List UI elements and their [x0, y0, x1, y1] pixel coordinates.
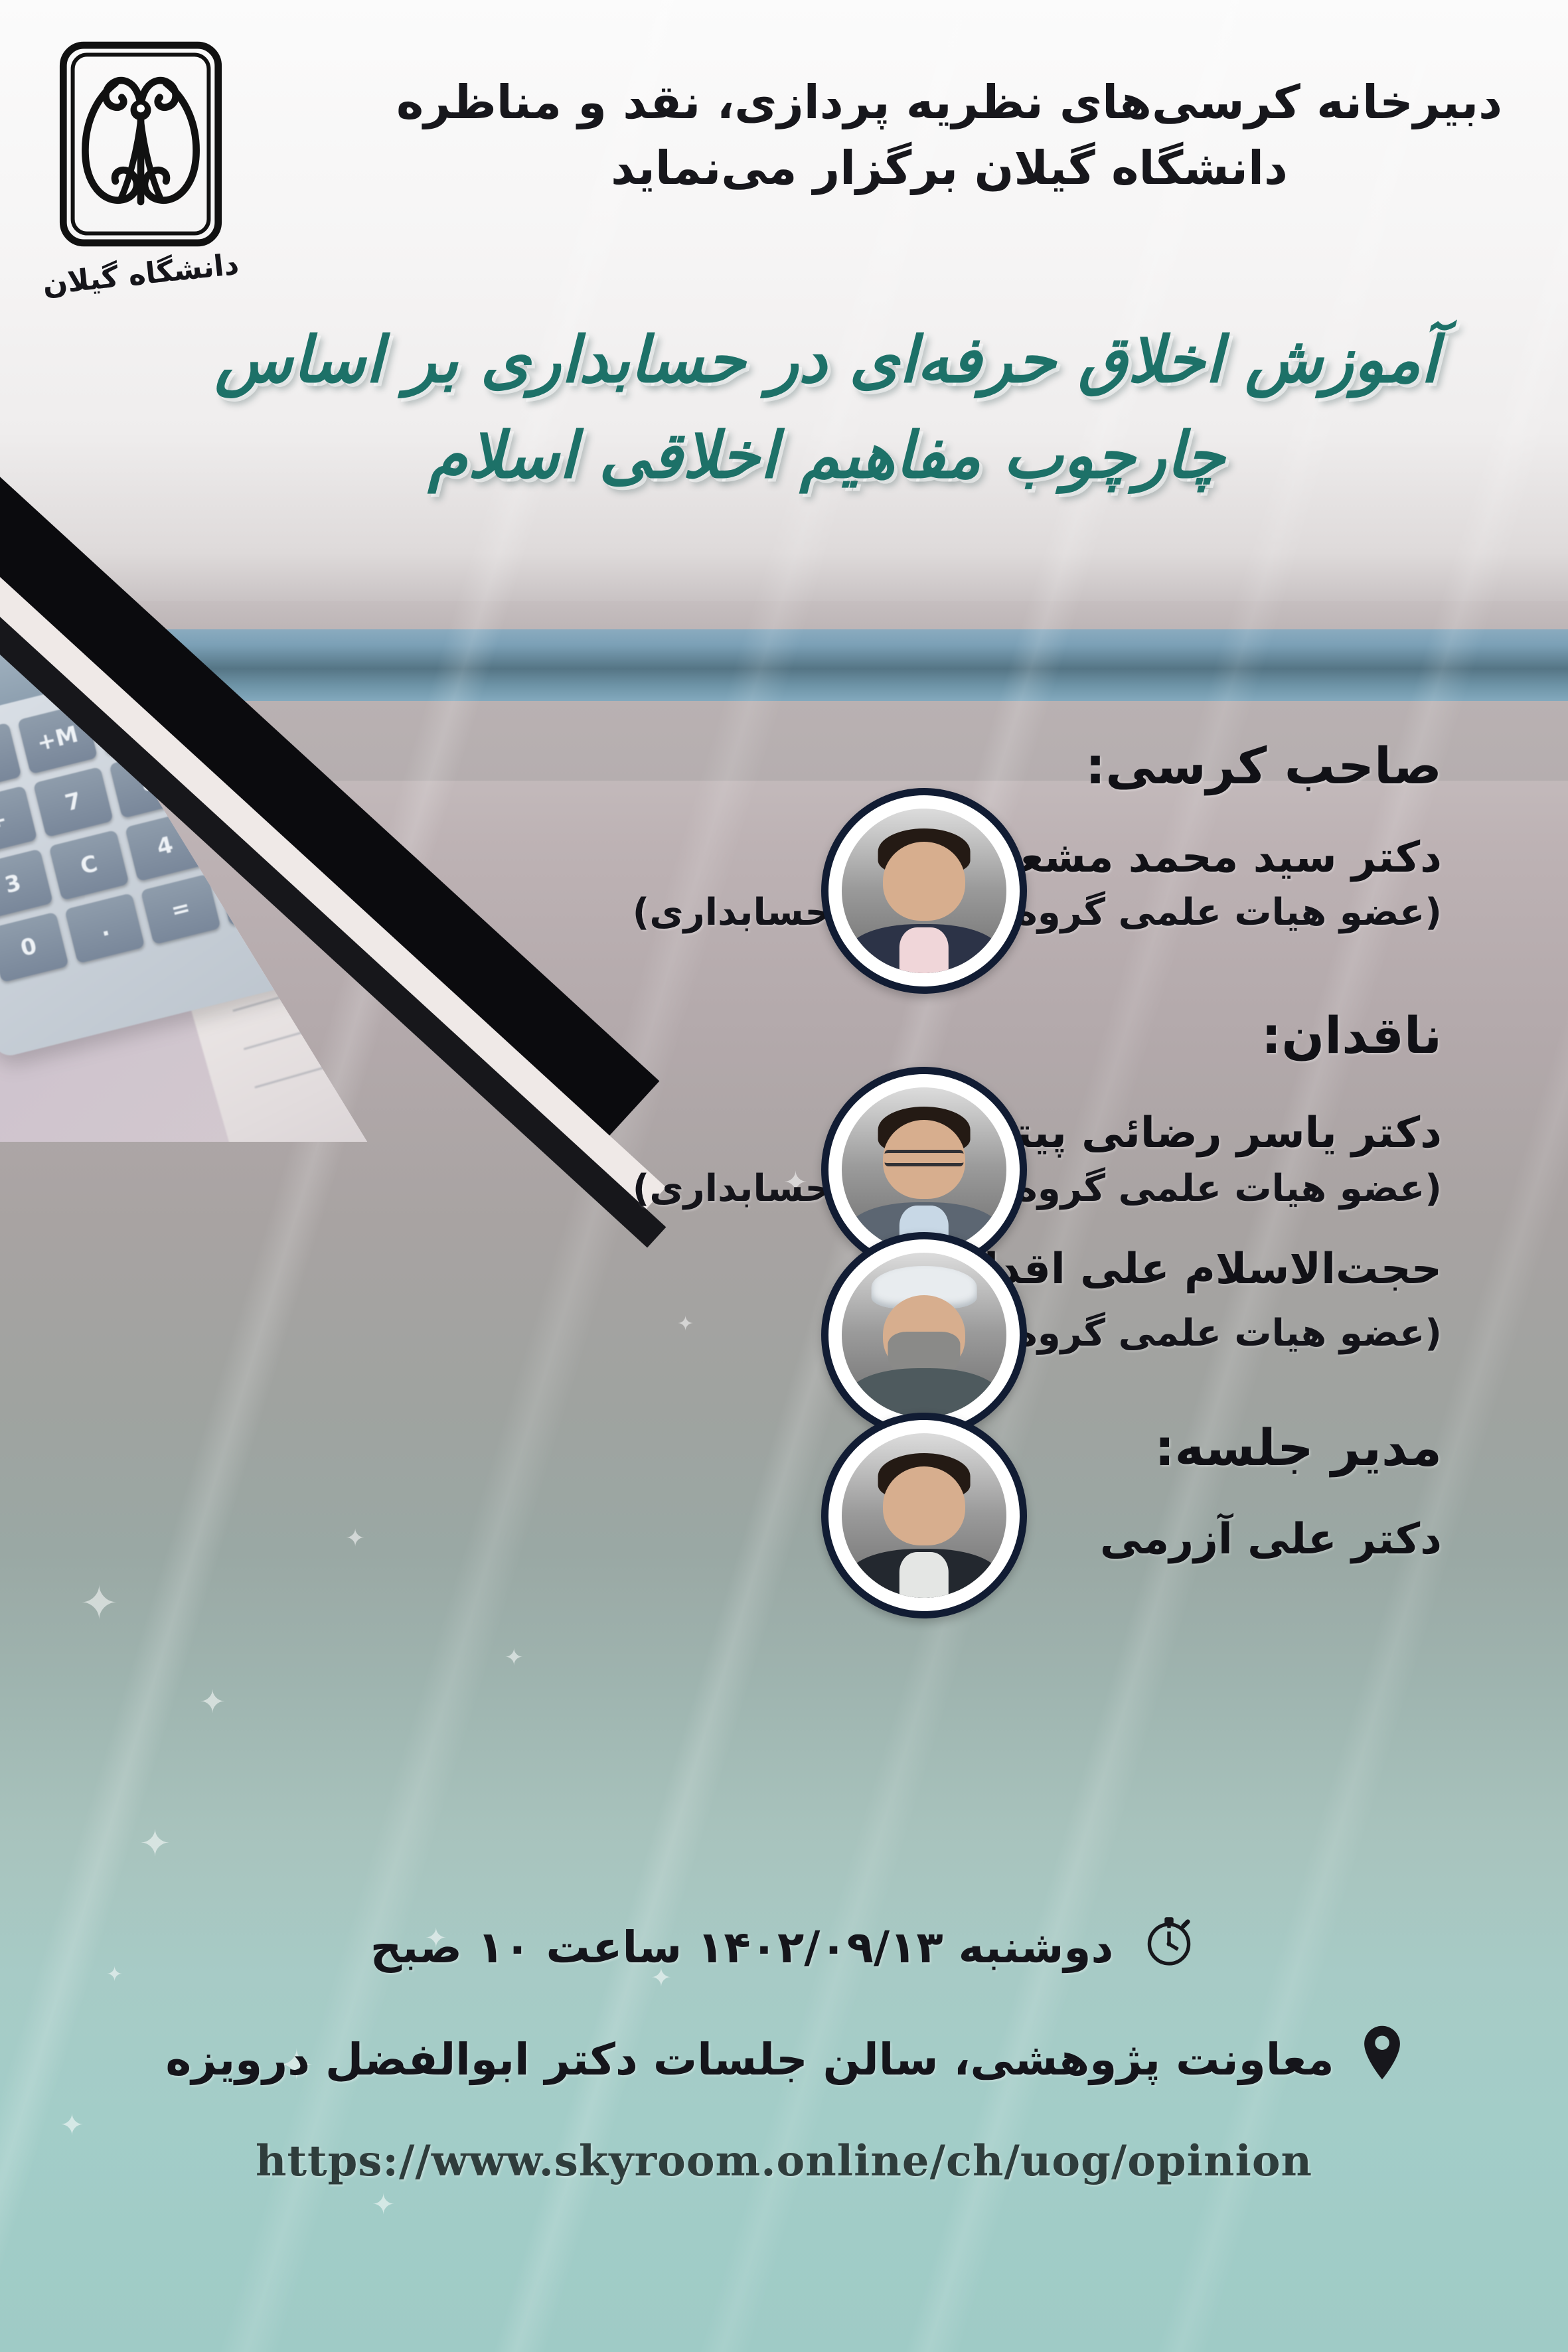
participant-name-critic-one: دکتر یاسر رضائی پیته‌نویی [81, 1104, 1522, 1162]
avatar [842, 1087, 1006, 1252]
stopwatch-icon [1140, 1912, 1198, 1983]
gilan-university-emblem-icon [54, 35, 228, 254]
location-pin-icon [1362, 2024, 1403, 2095]
portrait-critic-two [821, 1232, 1027, 1438]
title-line-2: چارچوب مفاهیم اخلاقی اسلام [119, 408, 1533, 503]
role-label-critics: ناقدان: [81, 1003, 1522, 1069]
title-line-1: آموزش اخلاق حرفه‌ای در حسابداری بر اساس [119, 312, 1533, 408]
event-datetime-row: دوشنبه ۱۴۰۲/۰۹/۱۳ ساعت ۱۰ صبح [0, 1912, 1568, 1983]
portrait-ring [828, 1239, 1020, 1431]
background-blue-band [0, 629, 1568, 701]
event-location-row: معاونت پژوهشی، سالن جلسات دکتر ابوالفضل … [0, 2024, 1568, 2095]
portrait-session-chair [821, 1413, 1027, 1618]
organizer-header: دبیرخانه کرسی‌های نظریه پردازی، نقد و من… [372, 70, 1527, 202]
participants-section: صاحب کرسی: دکتر سید محمد مشعشعی (عضو هیا… [81, 734, 1522, 1569]
organizer-line-1: دبیرخانه کرسی‌های نظریه پردازی، نقد و من… [372, 70, 1527, 135]
participant-critic-one: ناقدان: دکتر یاسر رضائی پیته‌نویی (عضو ه… [81, 1003, 1522, 1215]
event-poster: ✦ ✦ ✦ ✦ ✦ ✦ ✦ ✦ ✦ ✦ ✦ ✦ ✦ ✦ + X MU M+ % [0, 0, 1568, 2352]
avatar [842, 809, 1006, 973]
role-label-session-chair: مدیر جلسه: [81, 1415, 1522, 1481]
portrait-ring [828, 795, 1020, 986]
avatar [842, 1433, 1006, 1598]
event-url[interactable]: https://www.skyroom.online/ch/uog/opinio… [0, 2136, 1568, 2186]
participant-chair-holder: صاحب کرسی: دکتر سید محمد مشعشعی (عضو هیا… [81, 734, 1522, 939]
participant-affiliation-critic-two: (عضو هیات علمی گروه معارف) [81, 1308, 1522, 1360]
portrait-ring [828, 1420, 1020, 1611]
participant-affiliation-chair-holder: (عضو هیات علمی گروه اقتصاد و حسابداری) [81, 887, 1522, 939]
organizer-line-2: دانشگاه گیلان برگزار می‌نماید [372, 135, 1527, 201]
calculator-key: % [0, 722, 22, 793]
participant-affiliation-critic-one: (عضو هیات علمی گروه اقتصاد و حسابداری) [81, 1163, 1522, 1215]
participant-name-critic-two: حجت‌الاسلام علی اقدامی [81, 1240, 1522, 1298]
page-title: آموزش اخلاق حرفه‌ای در حسابداری بر اساس … [119, 312, 1533, 503]
role-label-chair-holder: صاحب کرسی: [81, 734, 1522, 799]
event-datetime: دوشنبه ۱۴۰۲/۰۹/۱۳ ساعت ۱۰ صبح [370, 1922, 1114, 1973]
university-logo: دانشگاه گیلان [41, 35, 240, 291]
avatar [842, 1253, 1006, 1417]
portrait-chair-holder [821, 788, 1027, 994]
event-location: معاونت پژوهشی، سالن جلسات دکتر ابوالفضل … [165, 2034, 1334, 2085]
calculator-key: 3 [0, 848, 53, 919]
participant-session-chair: مدیر جلسه: دکتر علی آزرمی [81, 1415, 1522, 1569]
event-details-footer: دوشنبه ۱۴۰۲/۰۹/۱۳ ساعت ۱۰ صبح معاونت پژو… [0, 1912, 1568, 2186]
calculator-key: ÷ [0, 785, 37, 856]
participant-critic-two: حجت‌الاسلام علی اقدامی (عضو هیات علمی گر… [81, 1240, 1522, 1386]
participant-name-session-chair: دکتر علی آزرمی [81, 1510, 1522, 1569]
calculator-key: 0 [0, 912, 69, 983]
participant-name-chair-holder: دکتر سید محمد مشعشعی [81, 828, 1522, 887]
background-band-upper-edge [0, 601, 1568, 631]
